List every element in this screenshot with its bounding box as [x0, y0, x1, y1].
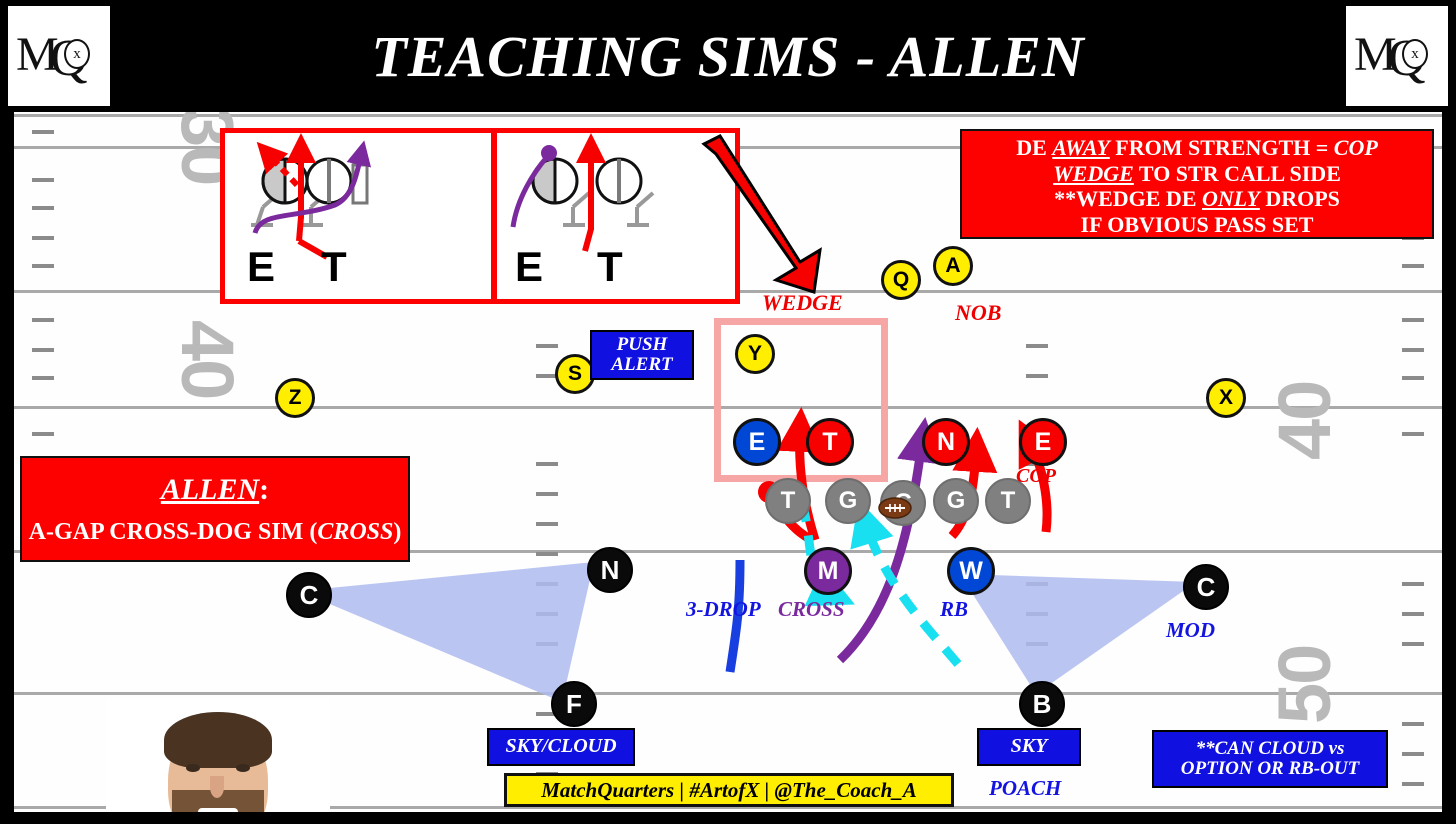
call-line: ALERT	[611, 355, 672, 375]
play-diagram-page: TEACHING SIMS - ALLEN M Q x M Q x	[0, 0, 1456, 824]
photo-eyebrow-left	[182, 754, 204, 759]
note-em-cop: COP	[1334, 135, 1378, 160]
ol-left-tackle: T	[765, 478, 811, 524]
call-box-push-alert[interactable]: PUSH ALERT	[590, 330, 694, 380]
annotation-mod: MOD	[1166, 618, 1215, 643]
play-subtitle: A-GAP CROSS-DOG SIM (	[29, 519, 318, 545]
hash-mark	[32, 348, 54, 352]
slot-s-marker: S	[555, 354, 595, 394]
note-line-4: IF OBVIOUS PASS SET	[968, 212, 1426, 238]
hash-mark	[536, 492, 558, 496]
note-em-away: AWAY	[1052, 135, 1109, 160]
photo-mouth	[198, 808, 238, 812]
photo-hair	[164, 712, 272, 768]
lb-will: W	[947, 547, 995, 595]
qb-marker: Q	[881, 260, 921, 300]
play-subtitle-end: )	[393, 519, 401, 545]
db-strong-safety: B	[1019, 681, 1065, 727]
inset-2-label-e: E	[515, 243, 543, 291]
call-box-sky[interactable]: SKY	[977, 728, 1081, 766]
call-box-sky-cloud[interactable]: SKY/CLOUD	[487, 728, 635, 766]
logo-left: M Q x	[8, 6, 110, 106]
yard-number: 50	[1262, 646, 1347, 724]
yard-number: 40	[1262, 382, 1347, 460]
photo-eyebrow-right	[232, 754, 254, 759]
credit-bar: MatchQuarters | #ArtofX | @The_Coach_A	[504, 773, 954, 807]
hash-mark	[1402, 722, 1424, 726]
coverage-note-box: DE AWAY FROM STRENGTH = COP WEDGE TO STR…	[960, 129, 1434, 239]
play-title-box: ALLEN: A-GAP CROSS-DOG SIM (CROSS)	[20, 456, 410, 562]
play-name: ALLEN	[161, 473, 259, 506]
hash-mark	[536, 552, 558, 556]
note-em-wedge: WEDGE	[1053, 161, 1134, 186]
football-icon	[878, 496, 912, 520]
inset-2-label-t: T	[597, 243, 623, 291]
photo-nose	[210, 776, 224, 798]
play-name-colon: :	[259, 473, 269, 506]
lb-mike: M	[804, 547, 852, 595]
header-bar: TEACHING SIMS - ALLEN M Q x M Q x	[0, 0, 1456, 112]
call-line: SKY/CLOUD	[505, 736, 616, 757]
d-nose-red: N	[922, 418, 970, 466]
annotation-nob: NOB	[955, 300, 1001, 326]
note-line-3: **WEDGE DE ONLY DROPS	[968, 186, 1426, 212]
annotation-wedge: WEDGE	[762, 290, 843, 316]
hash-mark	[1026, 344, 1048, 348]
hash-mark	[32, 130, 54, 134]
inset-1-label-t: T	[321, 243, 347, 291]
page-title: TEACHING SIMS - ALLEN	[0, 0, 1456, 112]
db-nickel: N	[587, 547, 633, 593]
annotation-poach: POACH	[989, 776, 1061, 801]
logo-circled-x-icon: x	[1402, 39, 1428, 69]
rb-marker: A	[933, 246, 973, 286]
call-line: PUSH	[617, 335, 668, 355]
hash-mark	[32, 236, 54, 240]
hash-mark	[1402, 612, 1424, 616]
hash-mark	[1402, 348, 1424, 352]
note-line-1: DE AWAY FROM STRENGTH = COP	[968, 135, 1426, 161]
hash-mark	[1402, 782, 1424, 786]
zone-triangle-right	[960, 574, 1196, 694]
inset-technique-2: E T	[492, 128, 740, 304]
logo-circled-x-icon: x	[64, 39, 90, 69]
db-free-safety: F	[551, 681, 597, 727]
hash-mark	[32, 264, 54, 268]
hash-mark	[1402, 376, 1424, 380]
hash-mark	[1402, 264, 1424, 268]
note-text: FROM STRENGTH =	[1110, 135, 1334, 160]
hash-mark	[1402, 642, 1424, 646]
hash-mark	[32, 376, 54, 380]
d-end-blue-dropper: E	[733, 418, 781, 466]
photo-eye-right	[236, 764, 250, 772]
hash-mark	[1402, 318, 1424, 322]
note-em-only: ONLY	[1202, 186, 1260, 211]
hash-mark	[536, 642, 558, 646]
hash-mark	[1026, 642, 1048, 646]
d-tackle-red: T	[806, 418, 854, 466]
note-text: **WEDGE DE	[1054, 186, 1202, 211]
db-corner-left: C	[286, 572, 332, 618]
hash-mark	[32, 432, 54, 436]
annotation-cop: COP	[1016, 465, 1056, 488]
wr-x-marker: X	[1206, 378, 1246, 418]
annotation-cross: CROSS	[778, 597, 845, 622]
annotation-3drop: 3-DROP	[686, 597, 761, 622]
note-line-2: WEDGE TO STR CALL SIDE	[968, 161, 1426, 187]
hash-mark	[1026, 374, 1048, 378]
yard-number: 40	[165, 320, 250, 398]
hash-mark	[1402, 752, 1424, 756]
yard-line	[14, 692, 1442, 695]
inset-1-label-e: E	[247, 243, 275, 291]
hash-mark	[32, 318, 54, 322]
note-text: DE	[1016, 135, 1052, 160]
hash-mark	[32, 178, 54, 182]
te-y-marker: Y	[735, 334, 775, 374]
play-name-row: ALLEN:	[161, 473, 269, 507]
hash-mark	[536, 612, 558, 616]
hash-mark	[536, 522, 558, 526]
logo-right: M Q x	[1346, 6, 1448, 106]
hash-mark	[32, 206, 54, 210]
note-text: TO STR CALL SIDE	[1134, 161, 1341, 186]
call-box-can-cloud[interactable]: **CAN CLOUD vs OPTION OR RB-OUT	[1152, 730, 1388, 788]
play-subtitle-em: CROSS	[317, 519, 393, 545]
call-line: OPTION OR RB-OUT	[1181, 759, 1359, 779]
player-headshot-photo	[106, 698, 330, 812]
annotation-rb: RB	[940, 597, 968, 622]
wr-z-marker: Z	[275, 378, 315, 418]
play-subtitle-row: A-GAP CROSS-DOG SIM (CROSS)	[29, 519, 402, 546]
d-end-cop-red: E	[1019, 418, 1067, 466]
hash-mark	[1026, 612, 1048, 616]
hash-mark	[536, 582, 558, 586]
call-line: **CAN CLOUD vs	[1196, 739, 1345, 759]
inset-technique-1: E T	[220, 128, 496, 304]
path-rb-match-w	[866, 524, 958, 664]
ol-left-guard: G	[825, 478, 871, 524]
note-text: DROPS	[1260, 186, 1340, 211]
ol-right-guard: G	[933, 478, 979, 524]
hash-mark	[1402, 432, 1424, 436]
db-corner-right: C	[1183, 564, 1229, 610]
hash-mark	[536, 462, 558, 466]
photo-eye-left	[186, 764, 200, 772]
call-line: SKY	[1011, 736, 1048, 757]
football-field: 30 40 40 50	[14, 112, 1442, 812]
hash-mark	[1402, 582, 1424, 586]
hash-mark	[1026, 582, 1048, 586]
hash-mark	[536, 344, 558, 348]
